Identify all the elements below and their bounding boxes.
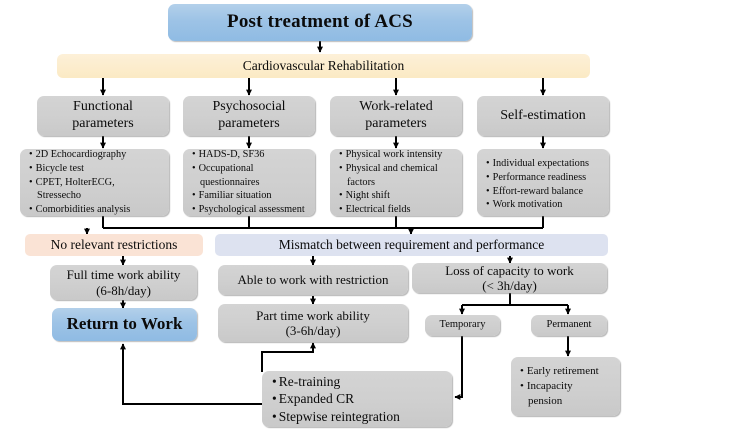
bullet-list: Re-training Expanded CR Stepwise reinteg… <box>262 367 452 431</box>
header-line-1: Functional <box>73 99 133 116</box>
list-item: Work motivation <box>486 198 602 212</box>
bullet-list: Early retirement Incapacity pension <box>511 359 620 414</box>
box-permanent: Permanent <box>531 315 607 336</box>
list-item: Physical and chemical <box>339 162 455 176</box>
band-label: No relevant restrictions <box>51 237 178 253</box>
box-permanent-outcome: Early retirement Incapacity pension <box>511 357 620 416</box>
list-item: HADS-D, SF36 <box>192 148 308 162</box>
cardiovascular-rehabilitation-band: Cardiovascular Rehabilitation <box>57 54 590 78</box>
list-item: Psychological assessment <box>192 203 308 217</box>
box-part-time-work-ability: Part time work ability (3-6h/day) <box>218 304 408 342</box>
column-header-self-estimation: Self-estimation <box>477 96 609 136</box>
list-item: CPET, HolterECG, <box>29 176 162 190</box>
box-loss-of-capacity-to-work: Loss of capacity to work (< 3h/day) <box>412 263 607 293</box>
header-line-1: Work-related <box>359 99 433 116</box>
list-item: Early retirement <box>520 364 613 379</box>
column-header-psychosocial-parameters: Psychosocial parameters <box>183 96 315 136</box>
bullet-list: Individual expectations Performance read… <box>477 148 609 217</box>
list-item: Comorbidities analysis <box>29 203 162 217</box>
return-to-work-label: Return to Work <box>67 314 183 334</box>
list-item: Incapacity <box>520 379 613 394</box>
list-item: Familiar situation <box>192 189 308 203</box>
list-item-continuation: pension <box>520 394 613 409</box>
list-item-continuation: factors <box>339 176 455 190</box>
header-line-1: Psychosocial <box>212 99 285 116</box>
box-full-time-work-ability: Full time work ability (6-8h/day) <box>50 265 197 300</box>
list-item: 2D Echocardiography <box>29 148 162 162</box>
part-time-line-1: Part time work ability <box>256 308 370 323</box>
column-detail-work-related-parameters: Physical work intensity Physical and che… <box>330 149 462 216</box>
list-item: Physical work intensity <box>339 148 455 162</box>
band-mismatch: Mismatch between requirement and perform… <box>215 234 608 256</box>
loss-capacity-line-1: Loss of capacity to work <box>445 263 574 278</box>
header-line-2: parameters <box>72 116 133 133</box>
band-no-relevant-restrictions: No relevant restrictions <box>25 234 203 256</box>
list-item: Night shift <box>339 189 455 203</box>
flowchart-canvas: Post treatment of ACS Cardiovascular Reh… <box>0 0 749 431</box>
box-return-to-work: Return to Work <box>52 308 197 341</box>
temporary-label: Temporary <box>440 319 486 331</box>
part-time-line-2: (3-6h/day) <box>286 323 341 338</box>
band-label: Mismatch between requirement and perform… <box>279 237 544 253</box>
list-item: Expanded CR <box>272 390 444 408</box>
list-item-continuation: questionnaires <box>192 176 308 190</box>
bullet-list: HADS-D, SF36 Occupational questionnaires… <box>183 143 315 221</box>
list-item: Occupational <box>192 162 308 176</box>
column-detail-psychosocial-parameters: HADS-D, SF36 Occupational questionnaires… <box>183 149 315 216</box>
column-header-functional-parameters: Functional parameters <box>37 96 169 136</box>
header-line-2: parameters <box>218 116 279 133</box>
box-measures: Re-training Expanded CR Stepwise reinteg… <box>262 371 452 427</box>
list-item: Stepwise reintegration <box>272 408 444 426</box>
column-detail-functional-parameters: 2D Echocardiography Bicycle test CPET, H… <box>20 149 169 216</box>
list-item-continuation: Stressecho <box>29 189 162 203</box>
permanent-label: Permanent <box>547 319 592 331</box>
bullet-list: 2D Echocardiography Bicycle test CPET, H… <box>20 143 169 221</box>
list-item: Electrical fields <box>339 203 455 217</box>
header-line-2: parameters <box>365 116 426 133</box>
loss-capacity-line-2: (< 3h/day) <box>482 278 537 293</box>
able-restriction-label: Able to work with restriction <box>238 272 389 287</box>
list-item: Performance readiness <box>486 171 602 185</box>
full-time-line-2: (6-8h/day) <box>96 283 151 298</box>
full-time-line-1: Full time work ability <box>67 267 181 282</box>
title-box: Post treatment of ACS <box>168 4 472 41</box>
box-temporary: Temporary <box>425 315 500 336</box>
column-detail-self-estimation: Individual expectations Performance read… <box>477 149 609 216</box>
list-item: Bicycle test <box>29 162 162 176</box>
list-item: Individual expectations <box>486 157 602 171</box>
rehab-band-label: Cardiovascular Rehabilitation <box>243 58 405 74</box>
page-title: Post treatment of ACS <box>227 11 413 33</box>
bullet-list: Physical work intensity Physical and che… <box>330 143 462 221</box>
box-able-to-work-with-restriction: Able to work with restriction <box>218 265 408 295</box>
list-item: Effort-reward balance <box>486 185 602 199</box>
list-item: Re-training <box>272 373 444 391</box>
header-line-1: Self-estimation <box>500 108 586 125</box>
column-header-work-related-parameters: Work-related parameters <box>330 96 462 136</box>
